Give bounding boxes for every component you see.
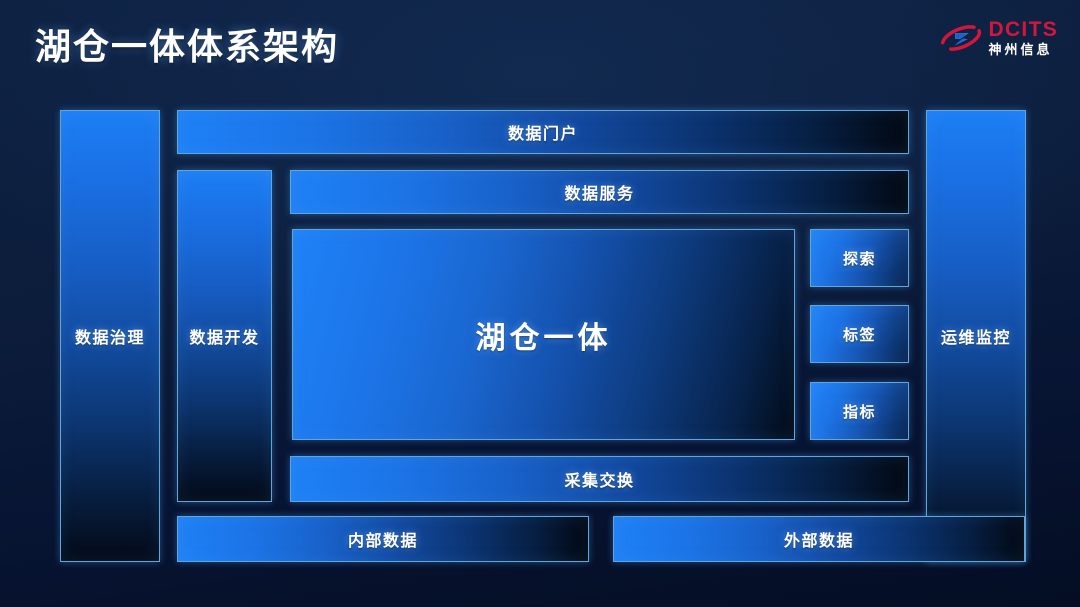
panel-external-data-label: 外部数据 [784, 527, 854, 551]
panel-data-governance-label: 数据治理 [75, 324, 145, 348]
logo-cn-text: 神州信息 [989, 43, 1053, 56]
panel-data-development[interactable]: 数据开发 [177, 170, 272, 502]
panel-chip-tags-label: 标签 [843, 324, 876, 345]
panel-internal-data-label: 内部数据 [348, 527, 418, 551]
panel-lakehouse-label: 湖仓一体 [476, 313, 612, 357]
panel-collect-exchange[interactable]: 采集交换 [290, 456, 909, 502]
slide-canvas: 湖仓一体体系架构 DCITS 神州信息 数据治理 运维监控 数据门户 数据开发 … [0, 0, 1080, 607]
panel-internal-data[interactable]: 内部数据 [177, 516, 589, 562]
panel-chip-explore-label: 探索 [843, 248, 876, 269]
panel-external-data[interactable]: 外部数据 [613, 516, 1025, 562]
panel-data-portal[interactable]: 数据门户 [177, 110, 909, 154]
panel-data-portal-label: 数据门户 [508, 120, 578, 144]
panel-data-service-label: 数据服务 [564, 180, 634, 204]
panel-chip-metrics[interactable]: 指标 [810, 382, 909, 440]
logo-wordmark: DCITS 神州信息 [989, 19, 1059, 56]
panel-data-development-label: 数据开发 [189, 324, 259, 348]
panel-ops-monitoring[interactable]: 运维监控 [926, 110, 1026, 562]
panel-chip-explore[interactable]: 探索 [810, 229, 909, 287]
panel-lakehouse[interactable]: 湖仓一体 [292, 229, 795, 440]
panel-collect-exchange-label: 采集交换 [564, 467, 634, 491]
page-title: 湖仓一体体系架构 [35, 18, 339, 70]
panel-data-service[interactable]: 数据服务 [290, 170, 909, 214]
panel-chip-metrics-label: 指标 [843, 401, 876, 422]
brand-logo: DCITS 神州信息 [940, 19, 1059, 56]
panel-data-governance[interactable]: 数据治理 [60, 110, 160, 562]
panel-ops-monitoring-label: 运维监控 [941, 324, 1011, 348]
panel-chip-tags[interactable]: 标签 [810, 305, 909, 363]
dcits-swirl-icon [940, 22, 982, 54]
logo-en-text: DCITS [989, 19, 1059, 40]
